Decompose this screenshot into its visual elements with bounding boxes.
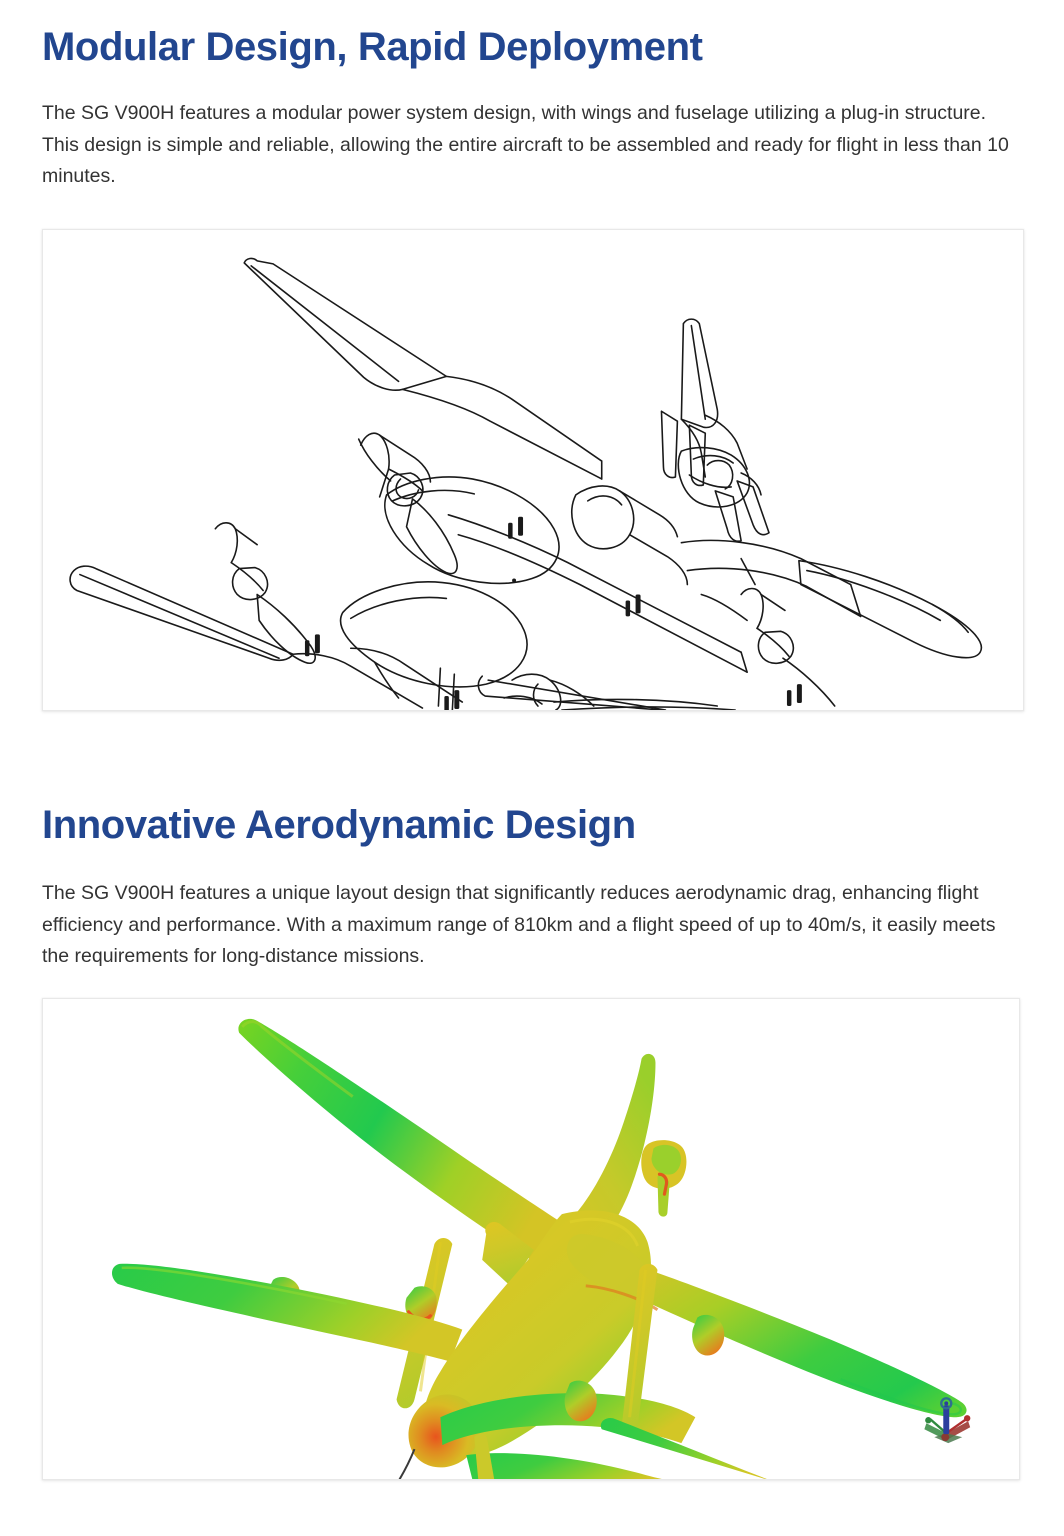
cfd-pressure-render-svg — [43, 999, 1019, 1479]
figure-card-exploded-line-drawing — [42, 229, 1024, 711]
page-title-aerodynamic: Innovative Aerodynamic Design — [42, 804, 1022, 847]
section-body-modular: The SG V900H features a modular power sy… — [42, 69, 1022, 193]
figure-card-cfd-pressure-render — [42, 998, 1020, 1480]
section-modular-design: Modular Design, Rapid Deployment The SG … — [42, 0, 1022, 711]
section-body-aerodynamic: The SG V900H features a unique layout de… — [42, 847, 1022, 973]
product-feature-page: Modular Design, Rapid Deployment The SG … — [0, 0, 1064, 1536]
section-aerodynamic-design: Innovative Aerodynamic Design The SG V90… — [42, 711, 1022, 1480]
exploded-line-drawing-svg — [43, 230, 1023, 710]
page-title-modular: Modular Design, Rapid Deployment — [42, 26, 1022, 69]
